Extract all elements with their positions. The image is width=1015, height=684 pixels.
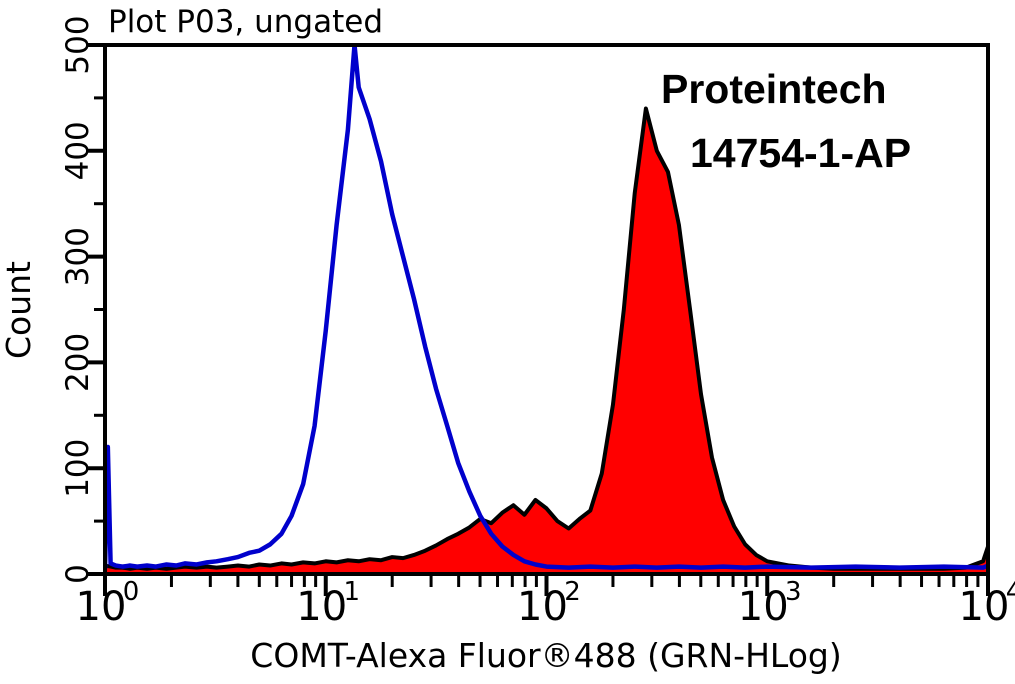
x-tick-label: 102 <box>517 577 581 630</box>
histogram-plot: 0100200300400500 100101102103104 Plot P0… <box>0 0 1015 684</box>
y-tick-label: 0 <box>60 564 96 584</box>
y-axis-tick-labels: 0100200300400500 <box>60 15 96 583</box>
y-axis-title: Count <box>0 261 38 359</box>
x-tick-label: 101 <box>296 577 360 630</box>
y-tick-label: 400 <box>60 121 96 180</box>
svg-text:10: 10 <box>517 584 568 630</box>
svg-text:3: 3 <box>785 577 802 607</box>
brand-label: Proteintech <box>661 66 887 112</box>
x-tick-label: 103 <box>738 577 802 630</box>
y-tick-label: 100 <box>60 439 96 498</box>
svg-text:10: 10 <box>738 584 789 630</box>
catalog-number-label: 14754-1-AP <box>690 130 911 176</box>
svg-text:4: 4 <box>1006 577 1015 607</box>
svg-text:10: 10 <box>296 584 347 630</box>
x-tick-label: 100 <box>76 577 140 630</box>
plot-area-background <box>105 45 988 574</box>
plot-title: Plot P03, ungated <box>108 4 383 40</box>
svg-text:2: 2 <box>564 577 581 607</box>
svg-text:1: 1 <box>343 577 360 607</box>
y-tick-label: 500 <box>60 15 96 74</box>
svg-text:0: 0 <box>123 577 140 607</box>
y-tick-label: 300 <box>60 227 96 286</box>
x-tick-label: 104 <box>959 577 1015 630</box>
x-axis-tick-labels: 100101102103104 <box>76 577 1015 630</box>
flow-cytometry-figure: 0100200300400500 100101102103104 Plot P0… <box>0 0 1015 684</box>
x-axis-title: COMT-Alexa Fluor®488 (GRN-HLog) <box>250 636 841 675</box>
svg-text:10: 10 <box>76 584 127 630</box>
y-tick-label: 200 <box>60 333 96 392</box>
svg-text:10: 10 <box>959 584 1010 630</box>
